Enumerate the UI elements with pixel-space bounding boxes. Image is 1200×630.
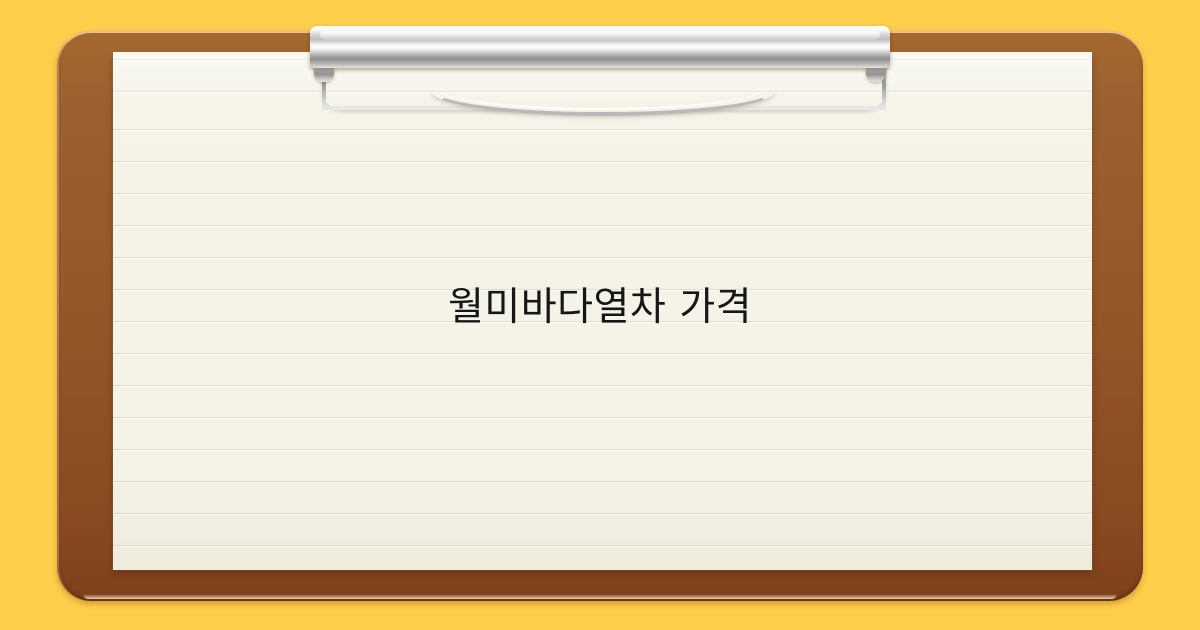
clip-bar-gloss [320, 31, 880, 40]
page-title: 월미바다열차 가격 [0, 282, 1200, 334]
clipboard-clip [310, 26, 890, 108]
poster-canvas: 월미바다열차 가격 [0, 0, 1200, 630]
board-bottom-gloss [83, 594, 1117, 599]
clip-top-bar [310, 26, 890, 68]
